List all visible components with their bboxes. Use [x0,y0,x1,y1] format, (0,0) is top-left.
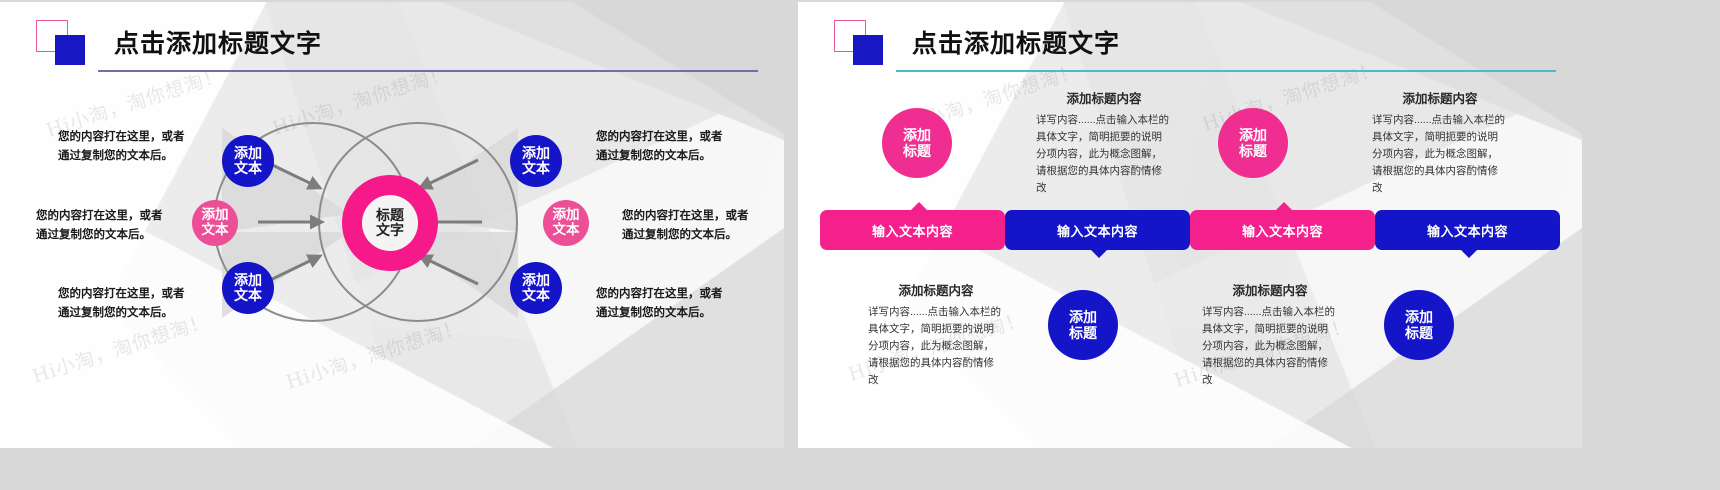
circle-label-line1: 添加 [903,127,931,143]
banner-segment-label: 输入文本内容 [872,221,953,240]
column-title-top-1[interactable]: 添加标题内容 [1360,88,1520,107]
node-label-line1: 添加 [522,273,550,288]
decor-square-solid-icon [853,35,883,65]
node-label-line2: 文本 [234,161,262,176]
slide-left[interactable]: Hi小淘，淘你想淘！ Hi小淘，淘你想淘！ Hi小淘，淘你想淘！ Hi小淘，淘你… [0,2,784,448]
column-body-top-0[interactable]: 详写内容......点击输入本栏的具体文字，简明扼要的说明分项内容，此为概念图解… [1036,112,1172,197]
node-label-line1: 添加 [202,208,229,223]
blurb-left-bottom[interactable]: 您的内容打在这里，或者通过复制您的文本后。 [58,285,188,323]
circle-label-line1: 添加 [1069,309,1097,325]
node-label-line2: 文本 [522,288,550,303]
node-label-line2: 文本 [522,161,550,176]
banner-segment-label: 输入文本内容 [1242,221,1323,240]
banner-segment-label: 输入文本内容 [1427,221,1508,240]
circle-bottom-1[interactable]: 添加 标题 [1384,290,1454,360]
node-right-bottom[interactable]: 添加 文本 [510,262,562,314]
node-label-line1: 添加 [234,146,262,161]
node-right-top[interactable]: 添加 文本 [510,135,562,187]
segmented-banner: 输入文本内容 输入文本内容 输入文本内容 输入文本内容 [820,210,1560,250]
center-hub[interactable]: 标题 文字 [342,175,438,271]
center-hub-label: 标题 文字 [362,195,418,251]
node-label-line2: 文本 [234,288,262,303]
column-title-top-0[interactable]: 添加标题内容 [1024,88,1184,107]
banner-segment-2[interactable]: 输入文本内容 [1190,210,1375,250]
circle-label-line1: 添加 [1239,127,1267,143]
node-left-top[interactable]: 添加 文本 [222,135,274,187]
node-label-line1: 添加 [234,273,262,288]
pointer-down-icon [1090,249,1108,258]
blurb-left-middle[interactable]: 您的内容打在这里，或者通过复制您的文本后。 [36,207,166,245]
node-label-line1: 添加 [553,208,580,223]
node-label-line2: 文本 [202,223,229,238]
circle-label-line1: 添加 [1405,309,1433,325]
circle-label-line2: 标题 [1069,325,1097,341]
slide-header: 点击添加标题文字 [834,20,1556,74]
hub-label-line2: 文字 [376,223,404,238]
circle-top-0[interactable]: 添加 标题 [882,108,952,178]
circle-label-line2: 标题 [1239,143,1267,159]
banner-segment-label: 输入文本内容 [1057,221,1138,240]
slide-right[interactable]: Hi小淘，淘你想淘！ Hi小淘，淘你想淘！ Hi小淘，淘你想淘！ Hi小淘，淘你… [798,2,1582,448]
circle-bottom-0[interactable]: 添加 标题 [1048,290,1118,360]
node-left-bottom[interactable]: 添加 文本 [222,262,274,314]
page-title: 点击添加标题文字 [912,24,1120,60]
node-right-middle[interactable]: 添加 文本 [543,200,589,246]
slide-gap [784,0,798,490]
blurb-right-top[interactable]: 您的内容打在这里，或者通过复制您的文本后。 [596,128,726,166]
blurb-left-top[interactable]: 您的内容打在这里，或者通过复制您的文本后。 [58,128,188,166]
column-title-bottom-1[interactable]: 添加标题内容 [1190,280,1350,299]
node-label-line1: 添加 [522,146,550,161]
circle-label-line2: 标题 [1405,325,1433,341]
circle-top-1[interactable]: 添加 标题 [1218,108,1288,178]
banner-segment-1[interactable]: 输入文本内容 [1005,210,1190,250]
column-title-bottom-0[interactable]: 添加标题内容 [856,280,1016,299]
blurb-right-bottom[interactable]: 您的内容打在这里，或者通过复制您的文本后。 [596,285,726,323]
blurb-right-middle[interactable]: 您的内容打在这里，或者通过复制您的文本后。 [622,207,752,245]
node-left-middle[interactable]: 添加 文本 [192,200,238,246]
hub-label-line1: 标题 [376,208,404,223]
pointer-up-icon [910,202,928,211]
node-label-line2: 文本 [553,223,580,238]
pointer-down-icon [1460,249,1478,258]
banner-segment-0[interactable]: 输入文本内容 [820,210,1005,250]
column-body-top-1[interactable]: 详写内容......点击输入本栏的具体文字，简明扼要的说明分项内容，此为概念图解… [1372,112,1508,197]
circle-label-line2: 标题 [903,143,931,159]
banner-segment-3[interactable]: 输入文本内容 [1375,210,1560,250]
column-body-bottom-1[interactable]: 详写内容......点击输入本栏的具体文字，简明扼要的说明分项内容，此为概念图解… [1202,304,1338,389]
title-underline [896,70,1556,72]
pointer-up-icon [1275,202,1293,211]
venn-diagram: 添加 文本 添加 文本 添加 文本 添加 文本 添加 文本 添加 文 [0,2,784,448]
column-body-bottom-0[interactable]: 详写内容......点击输入本栏的具体文字，简明扼要的说明分项内容，此为概念图解… [868,304,1004,389]
slide-deck: Hi小淘，淘你想淘！ Hi小淘，淘你想淘！ Hi小淘，淘你想淘！ Hi小淘，淘你… [0,0,1720,490]
